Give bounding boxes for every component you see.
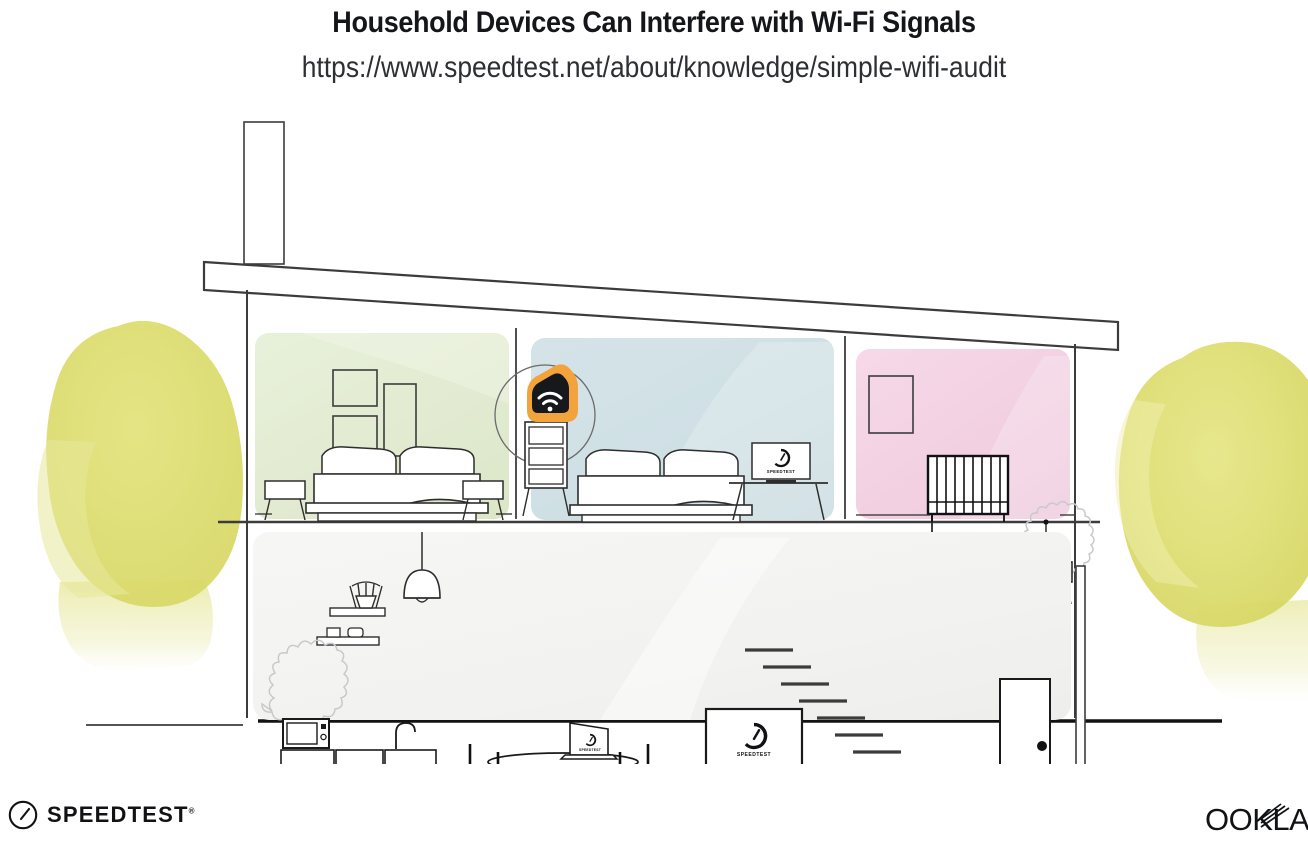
speedtest-trademark: ®: [189, 807, 195, 816]
room-bedroom-left: [255, 333, 512, 521]
foliage-right: [1115, 342, 1308, 700]
sidelight-window: [1076, 566, 1085, 764]
room-living-kitchen: SPEEDTEST: [253, 532, 1085, 764]
ookla-logo: OOKLA: [1205, 802, 1308, 842]
house-illustration: SPEEDTEST: [0, 104, 1308, 764]
ookla-k-mark: [1205, 802, 1308, 842]
chimney: [244, 122, 284, 264]
door-knob[interactable]: [1037, 741, 1047, 751]
speedtest-wordmark-text: SPEEDTEST: [47, 802, 189, 827]
speedtest-logo: SPEEDTEST®: [8, 800, 195, 830]
page-title: Household Devices Can Interfere with Wi-…: [65, 4, 1242, 42]
laptop: SPEEDTEST: [561, 723, 617, 759]
laptop-label: SPEEDTEST: [579, 748, 602, 752]
footer: SPEEDTEST® OOKLA: [0, 780, 1308, 861]
monitor-screen: SPEEDTEST: [752, 443, 810, 479]
tv-group: SPEEDTEST: [688, 709, 810, 764]
infographic-page: Household Devices Can Interfere with Wi-…: [0, 0, 1308, 861]
room-bedroom-middle: SPEEDTEST: [531, 338, 834, 522]
house-cutaway-svg: SPEEDTEST: [0, 104, 1308, 764]
speedtest-wordmark: SPEEDTEST®: [47, 802, 195, 828]
tv-label: SPEEDTEST: [737, 752, 771, 758]
source-url: https://www.speedtest.net/about/knowledg…: [78, 48, 1229, 87]
crib: [928, 456, 1008, 522]
monitor-label: SPEEDTEST: [767, 469, 796, 474]
speedtest-gauge-icon-logo: [8, 800, 38, 830]
header: Household Devices Can Interfere with Wi-…: [0, 4, 1308, 87]
foliage-left: [37, 321, 243, 670]
